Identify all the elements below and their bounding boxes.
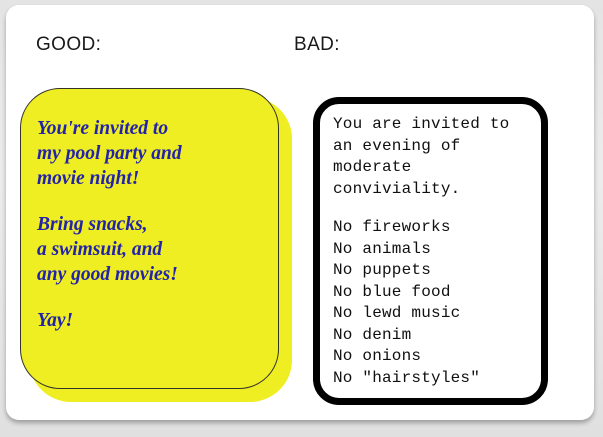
bad-rules-block: No fireworks No animals No puppets No bl… xyxy=(333,217,537,389)
bad-intro-line: You are invited to xyxy=(333,114,537,136)
bad-rule-line: No "hairstyles" xyxy=(333,368,537,390)
good-line: movie night! xyxy=(37,166,268,191)
good-stanza: Yay! xyxy=(37,308,268,333)
bad-rule-line: No blue food xyxy=(333,282,537,304)
bad-rule-line: No lewd music xyxy=(333,303,537,325)
good-line: a swimsuit, and xyxy=(37,237,268,262)
bad-intro-line: moderate xyxy=(333,157,537,179)
good-line: Yay! xyxy=(37,308,268,333)
bad-intro-line: conviviality. xyxy=(333,179,537,201)
good-stanza: Bring snacks, a swimsuit, and any good m… xyxy=(37,212,268,287)
bad-rule-line: No denim xyxy=(333,325,537,347)
bad-rule-line: No onions xyxy=(333,346,537,368)
good-line: any good movies! xyxy=(37,262,268,287)
bad-text-spacer xyxy=(333,200,537,217)
good-line: Bring snacks, xyxy=(37,212,268,237)
bad-rule-line: No animals xyxy=(333,239,537,261)
bad-rule-line: No fireworks xyxy=(333,217,537,239)
bad-intro-line: an evening of xyxy=(333,136,537,158)
good-card-face: You're invited to my pool party and movi… xyxy=(20,88,279,389)
good-line: my pool party and xyxy=(37,141,268,166)
screenshot-stage: GOOD: BAD: You're invited to my pool par… xyxy=(0,0,603,437)
bad-rule-line: No puppets xyxy=(333,260,537,282)
bad-card-text: You are invited to an evening of moderat… xyxy=(333,114,537,389)
good-card-text: You're invited to my pool party and movi… xyxy=(37,116,268,333)
good-invitation-card: You're invited to my pool party and movi… xyxy=(20,88,295,406)
good-line: You're invited to xyxy=(37,116,268,141)
good-stanza: You're invited to my pool party and movi… xyxy=(37,116,268,191)
column-heading-bad: BAD: xyxy=(294,34,340,56)
bad-intro-block: You are invited to an evening of moderat… xyxy=(333,114,537,200)
column-heading-good: GOOD: xyxy=(36,34,101,56)
bad-invitation-card: You are invited to an evening of moderat… xyxy=(313,97,548,405)
